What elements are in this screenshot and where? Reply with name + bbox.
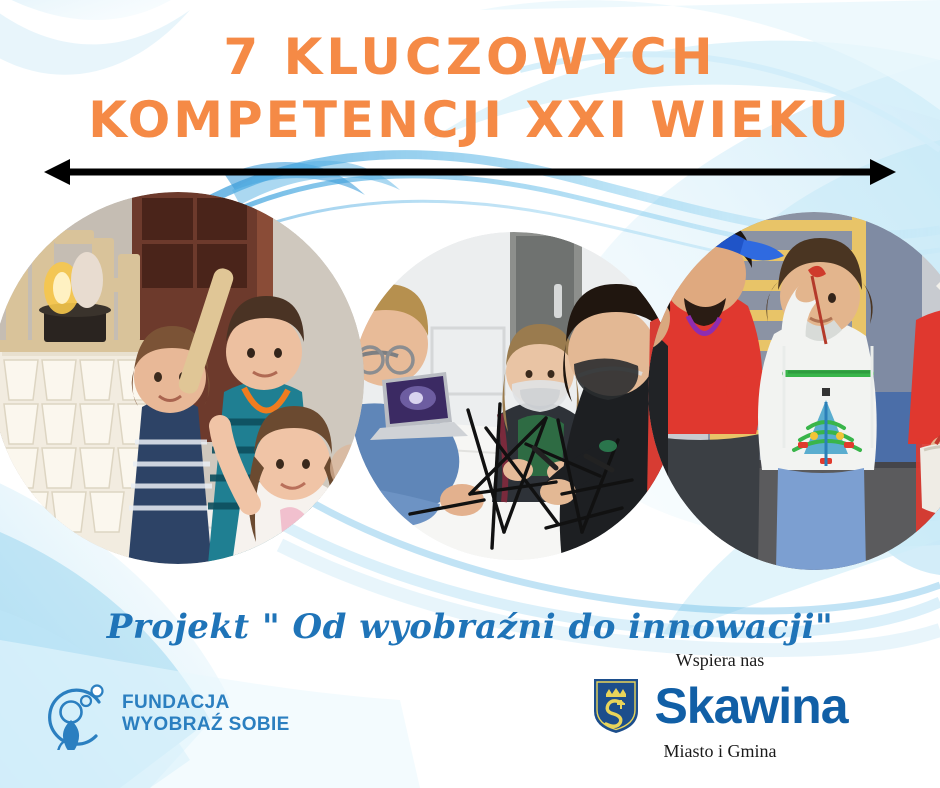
sponsor-block: Wspiera nas Skawina Miasto i Gmina [520,650,920,762]
foundation-name-line-1: FUNDACJA [122,692,290,714]
sponsor-caption: Wspiera nas [520,650,920,671]
photo-student-presenting-model-in-gym [648,212,940,570]
foundation-logo: FUNDACJA WYOBRAŹ SOBIE [46,678,290,750]
sponsor-name: Skawina [654,681,847,731]
foundation-name: FUNDACJA WYOBRAŹ SOBIE [122,692,290,737]
sponsor-subcaption: Miasto i Gmina [520,741,920,762]
photo-students-building-rod-structure [350,232,678,560]
page-title-line-2: KOMPETENCJI XXI WIEKU [0,95,940,145]
skawina-coat-of-arms-shield-icon [592,677,640,735]
double-headed-arrow-icon [44,158,896,186]
poster-canvas: 7 KLUCZOWYCH KOMPETENCJI XXI WIEKU [0,0,940,788]
page-title-line-1: 7 KLUCZOWYCH [0,32,940,82]
photo-children-building-cup-tower [0,192,364,564]
bubble-droplet-circle-logo-icon [46,678,112,750]
project-subtitle: Projekt " Od wyobraźni do innowacji" [0,607,940,647]
sponsor-lockup: Skawina [520,677,920,735]
foundation-name-line-2: WYOBRAŹ SOBIE [122,714,290,736]
